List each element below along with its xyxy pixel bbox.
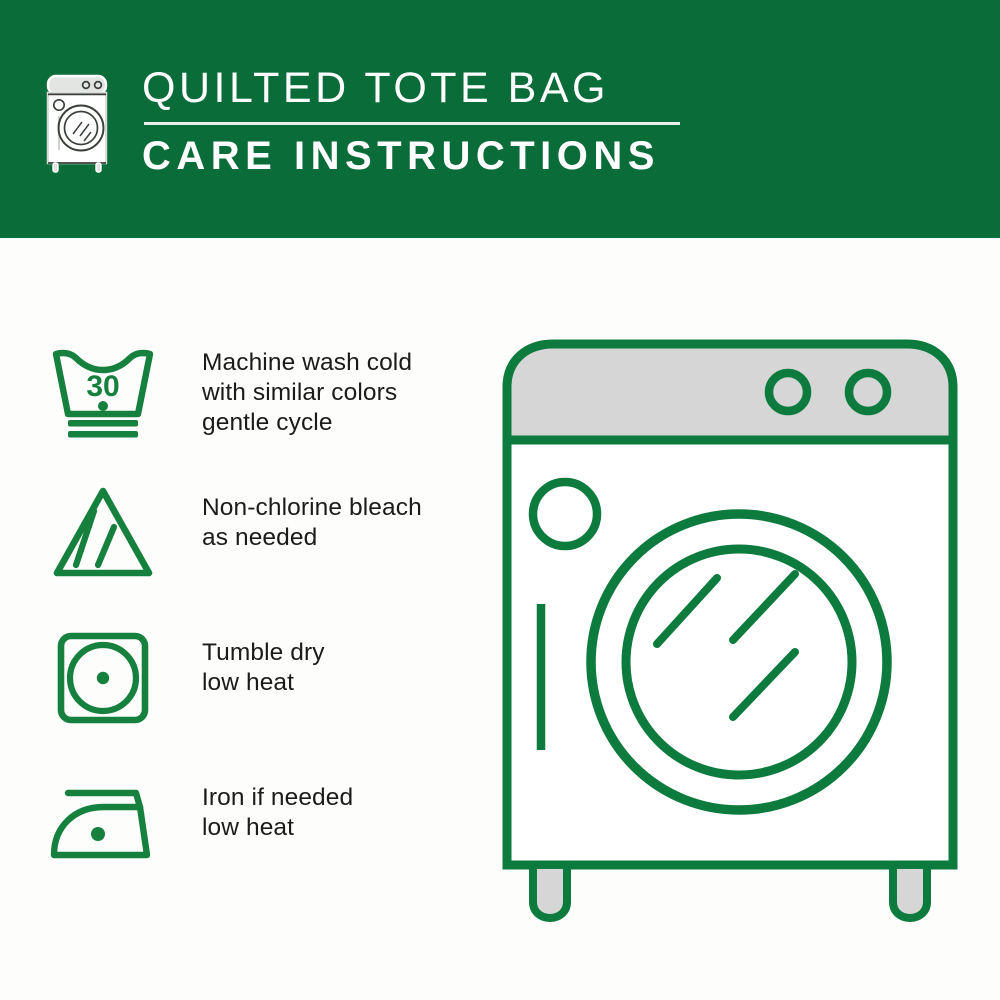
care-text: Tumble dry low heat: [202, 620, 325, 698]
non-chlorine-bleach-triangle-icon: [48, 475, 166, 585]
care-row: Tumble dry low heat: [48, 620, 478, 765]
care-instructions-infographic: QUILTED TOTE BAG CARE INSTRUCTIONS 30 Ma…: [0, 0, 1000, 1000]
iron-low-heat-icon: [48, 765, 166, 875]
washing-machine-illustration: [495, 332, 965, 922]
wash-tub-30-gentle-icon: 30: [48, 330, 166, 440]
care-text: Machine wash cold with similar colors ge…: [202, 330, 412, 438]
care-text-line: as needed: [202, 523, 422, 553]
care-text-line: Iron if needed: [202, 783, 353, 813]
title-divider: [144, 122, 680, 125]
care-symbol-list: 30 Machine wash cold with similar colors…: [48, 330, 478, 910]
care-text-line: Machine wash cold: [202, 348, 412, 378]
leg-left: [533, 865, 567, 918]
care-row: Iron if needed low heat: [48, 765, 478, 910]
care-text-line: Non-chlorine bleach: [202, 493, 422, 523]
care-text-line: low heat: [202, 668, 325, 698]
washing-machine-icon: [42, 66, 114, 178]
wash-temperature-label: 30: [86, 370, 119, 403]
header-content: QUILTED TOTE BAG CARE INSTRUCTIONS: [42, 62, 680, 181]
care-text-line: with similar colors: [202, 378, 412, 408]
care-text-line: low heat: [202, 813, 353, 843]
tumble-dry-low-heat-icon: [48, 620, 166, 730]
page-title: QUILTED TOTE BAG: [142, 62, 680, 114]
care-row: 30 Machine wash cold with similar colors…: [48, 330, 478, 475]
care-text: Iron if needed low heat: [202, 765, 353, 843]
care-text-line: Tumble dry: [202, 638, 325, 668]
leg-right: [893, 865, 927, 918]
header-banner: QUILTED TOTE BAG CARE INSTRUCTIONS: [0, 0, 1000, 238]
care-text-line: gentle cycle: [202, 408, 412, 438]
title-block: QUILTED TOTE BAG CARE INSTRUCTIONS: [142, 62, 680, 181]
care-row: Non-chlorine bleach as needed: [48, 475, 478, 620]
care-text: Non-chlorine bleach as needed: [202, 475, 422, 553]
page-subtitle: CARE INSTRUCTIONS: [142, 131, 680, 181]
